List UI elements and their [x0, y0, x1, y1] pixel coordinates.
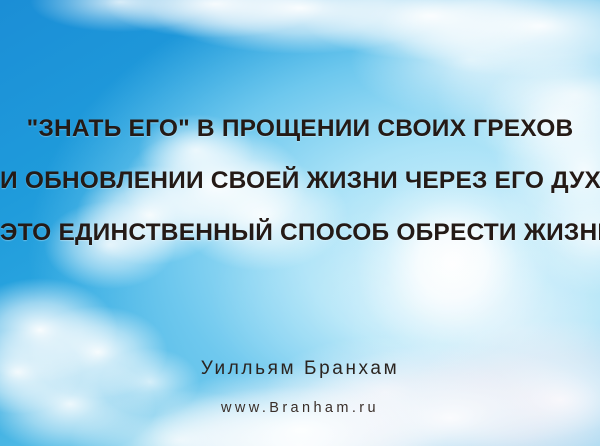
quote-line-1: "ЗНАТЬ ЕГО" В ПРОЩЕНИИ СВОИХ ГРЕХОВ [0, 103, 600, 155]
quote-card: "ЗНАТЬ ЕГО" В ПРОЩЕНИИ СВОИХ ГРЕХОВ И ОБ… [0, 0, 600, 446]
quote-line-3: ЭТО ЕДИНСТВЕННЫЙ СПОСОБ ОБРЕСТИ ЖИЗНЬ. [0, 207, 600, 259]
quote-author: Уилльям Бранхам [0, 358, 600, 380]
website-url: www.Branham.ru [0, 400, 600, 416]
quote-text-block: "ЗНАТЬ ЕГО" В ПРОЩЕНИИ СВОИХ ГРЕХОВ И ОБ… [0, 103, 600, 259]
quote-line-2: И ОБНОВЛЕНИИ СВОЕЙ ЖИЗНИ ЧЕРЕЗ ЕГО ДУХ. [0, 155, 600, 207]
